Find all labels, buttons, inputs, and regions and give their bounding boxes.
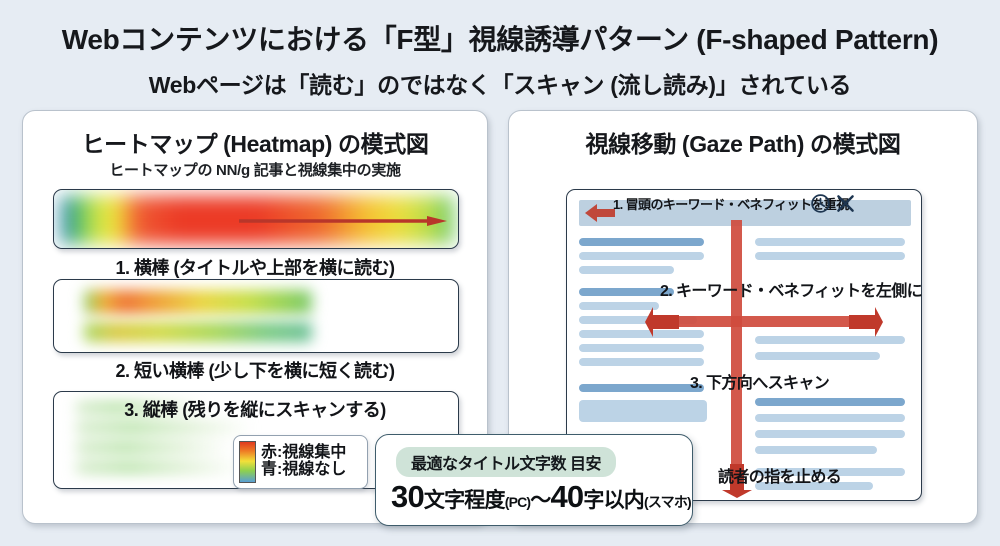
- gaze-arrow-right-icon: [849, 307, 883, 337]
- callout-num-pc: 30: [391, 479, 424, 514]
- callout-unit-pc: 文字程度: [424, 489, 505, 512]
- heatmap-step-3-caption: 3. 縦棒 (残りを縦にスキャンする): [23, 396, 487, 422]
- mock-line: [579, 400, 707, 422]
- callout-pill-label: 最適なタイトル文字数 目安: [396, 447, 616, 477]
- gaze-path-horizontal-stem: [672, 316, 857, 327]
- gaze-path-panel-title: 視線移動 (Gaze Path) の模式図: [509, 125, 977, 159]
- heatmap-panel-subtitle: ヒートマップの NN/g 記事と視線集中の実施: [23, 159, 487, 180]
- callout-separator: 〜: [530, 489, 550, 512]
- callout-unit-sp: 字以内: [583, 489, 644, 512]
- heatmap-row-1: [53, 189, 459, 249]
- gaze-label-2: 2. キーワード・ベネフィットを左側に: [660, 277, 922, 301]
- mock-line: [755, 336, 905, 344]
- legend-hot-label: 赤:視線集中: [261, 445, 346, 462]
- mock-line: [755, 414, 905, 422]
- mock-line: [755, 398, 905, 406]
- mock-line: [579, 330, 704, 338]
- mock-line: [579, 238, 704, 246]
- heatmap-legend: 赤:視線集中 青:視線なし: [233, 435, 368, 489]
- heat-arrow-right-icon: [239, 216, 447, 226]
- callout-value: 30文字程度(PC)〜40字以内(スマホ): [391, 479, 691, 515]
- legend-gradient-swatch: [239, 441, 256, 483]
- mock-line: [755, 252, 905, 260]
- close-icon[interactable]: [835, 193, 856, 214]
- gaze-label-4: 読者の指を止める: [718, 463, 841, 487]
- mock-line: [579, 384, 704, 392]
- heatmap-step-2-caption: 2. 短い横棒 (少し下を横に短く読む): [23, 357, 487, 383]
- title-length-callout: 最適なタイトル文字数 目安 30文字程度(PC)〜40字以内(スマホ): [375, 434, 693, 526]
- mock-line: [755, 430, 905, 438]
- mock-line: [579, 358, 704, 366]
- heat-band-short-2: [84, 322, 312, 342]
- mock-line: [755, 238, 905, 246]
- mock-line: [755, 446, 877, 454]
- legend-labels: 赤:視線集中 青:視線なし: [261, 445, 346, 479]
- mock-line: [579, 266, 674, 274]
- page-title: Webコンテンツにおける「F型」視線誘導パターン (F-shaped Patte…: [0, 18, 1000, 58]
- gaze-label-3: 3. 下方向へスキャン: [690, 369, 829, 393]
- heatmap-panel-title: ヒートマップ (Heatmap) の模式図: [23, 125, 487, 159]
- mock-line: [579, 252, 704, 260]
- arrow-left-icon: [585, 204, 615, 222]
- gaze-arrow-left-icon: [645, 307, 679, 337]
- callout-num-sp: 40: [550, 479, 583, 514]
- gaze-path-vertical-stem: [731, 220, 742, 472]
- page-subtitle: Webページは「読む」のではなく「スキャン (流し読み)」されている: [0, 66, 1000, 100]
- legend-cold-label: 青:視線なし: [261, 462, 346, 479]
- heatmap-step-1-caption: 1. 横棒 (タイトルや上部を横に読む): [23, 254, 487, 280]
- mock-line: [755, 352, 880, 360]
- callout-note-pc: (PC): [505, 494, 531, 510]
- heat-band-short-1: [84, 290, 312, 314]
- mock-line: [579, 344, 704, 352]
- slide-root: Webコンテンツにおける「F型」視線誘導パターン (F-shaped Patte…: [0, 0, 1000, 546]
- heatmap-row-2: [53, 279, 459, 353]
- clock-icon[interactable]: [810, 193, 831, 214]
- callout-note-sp: (スマホ): [644, 494, 691, 510]
